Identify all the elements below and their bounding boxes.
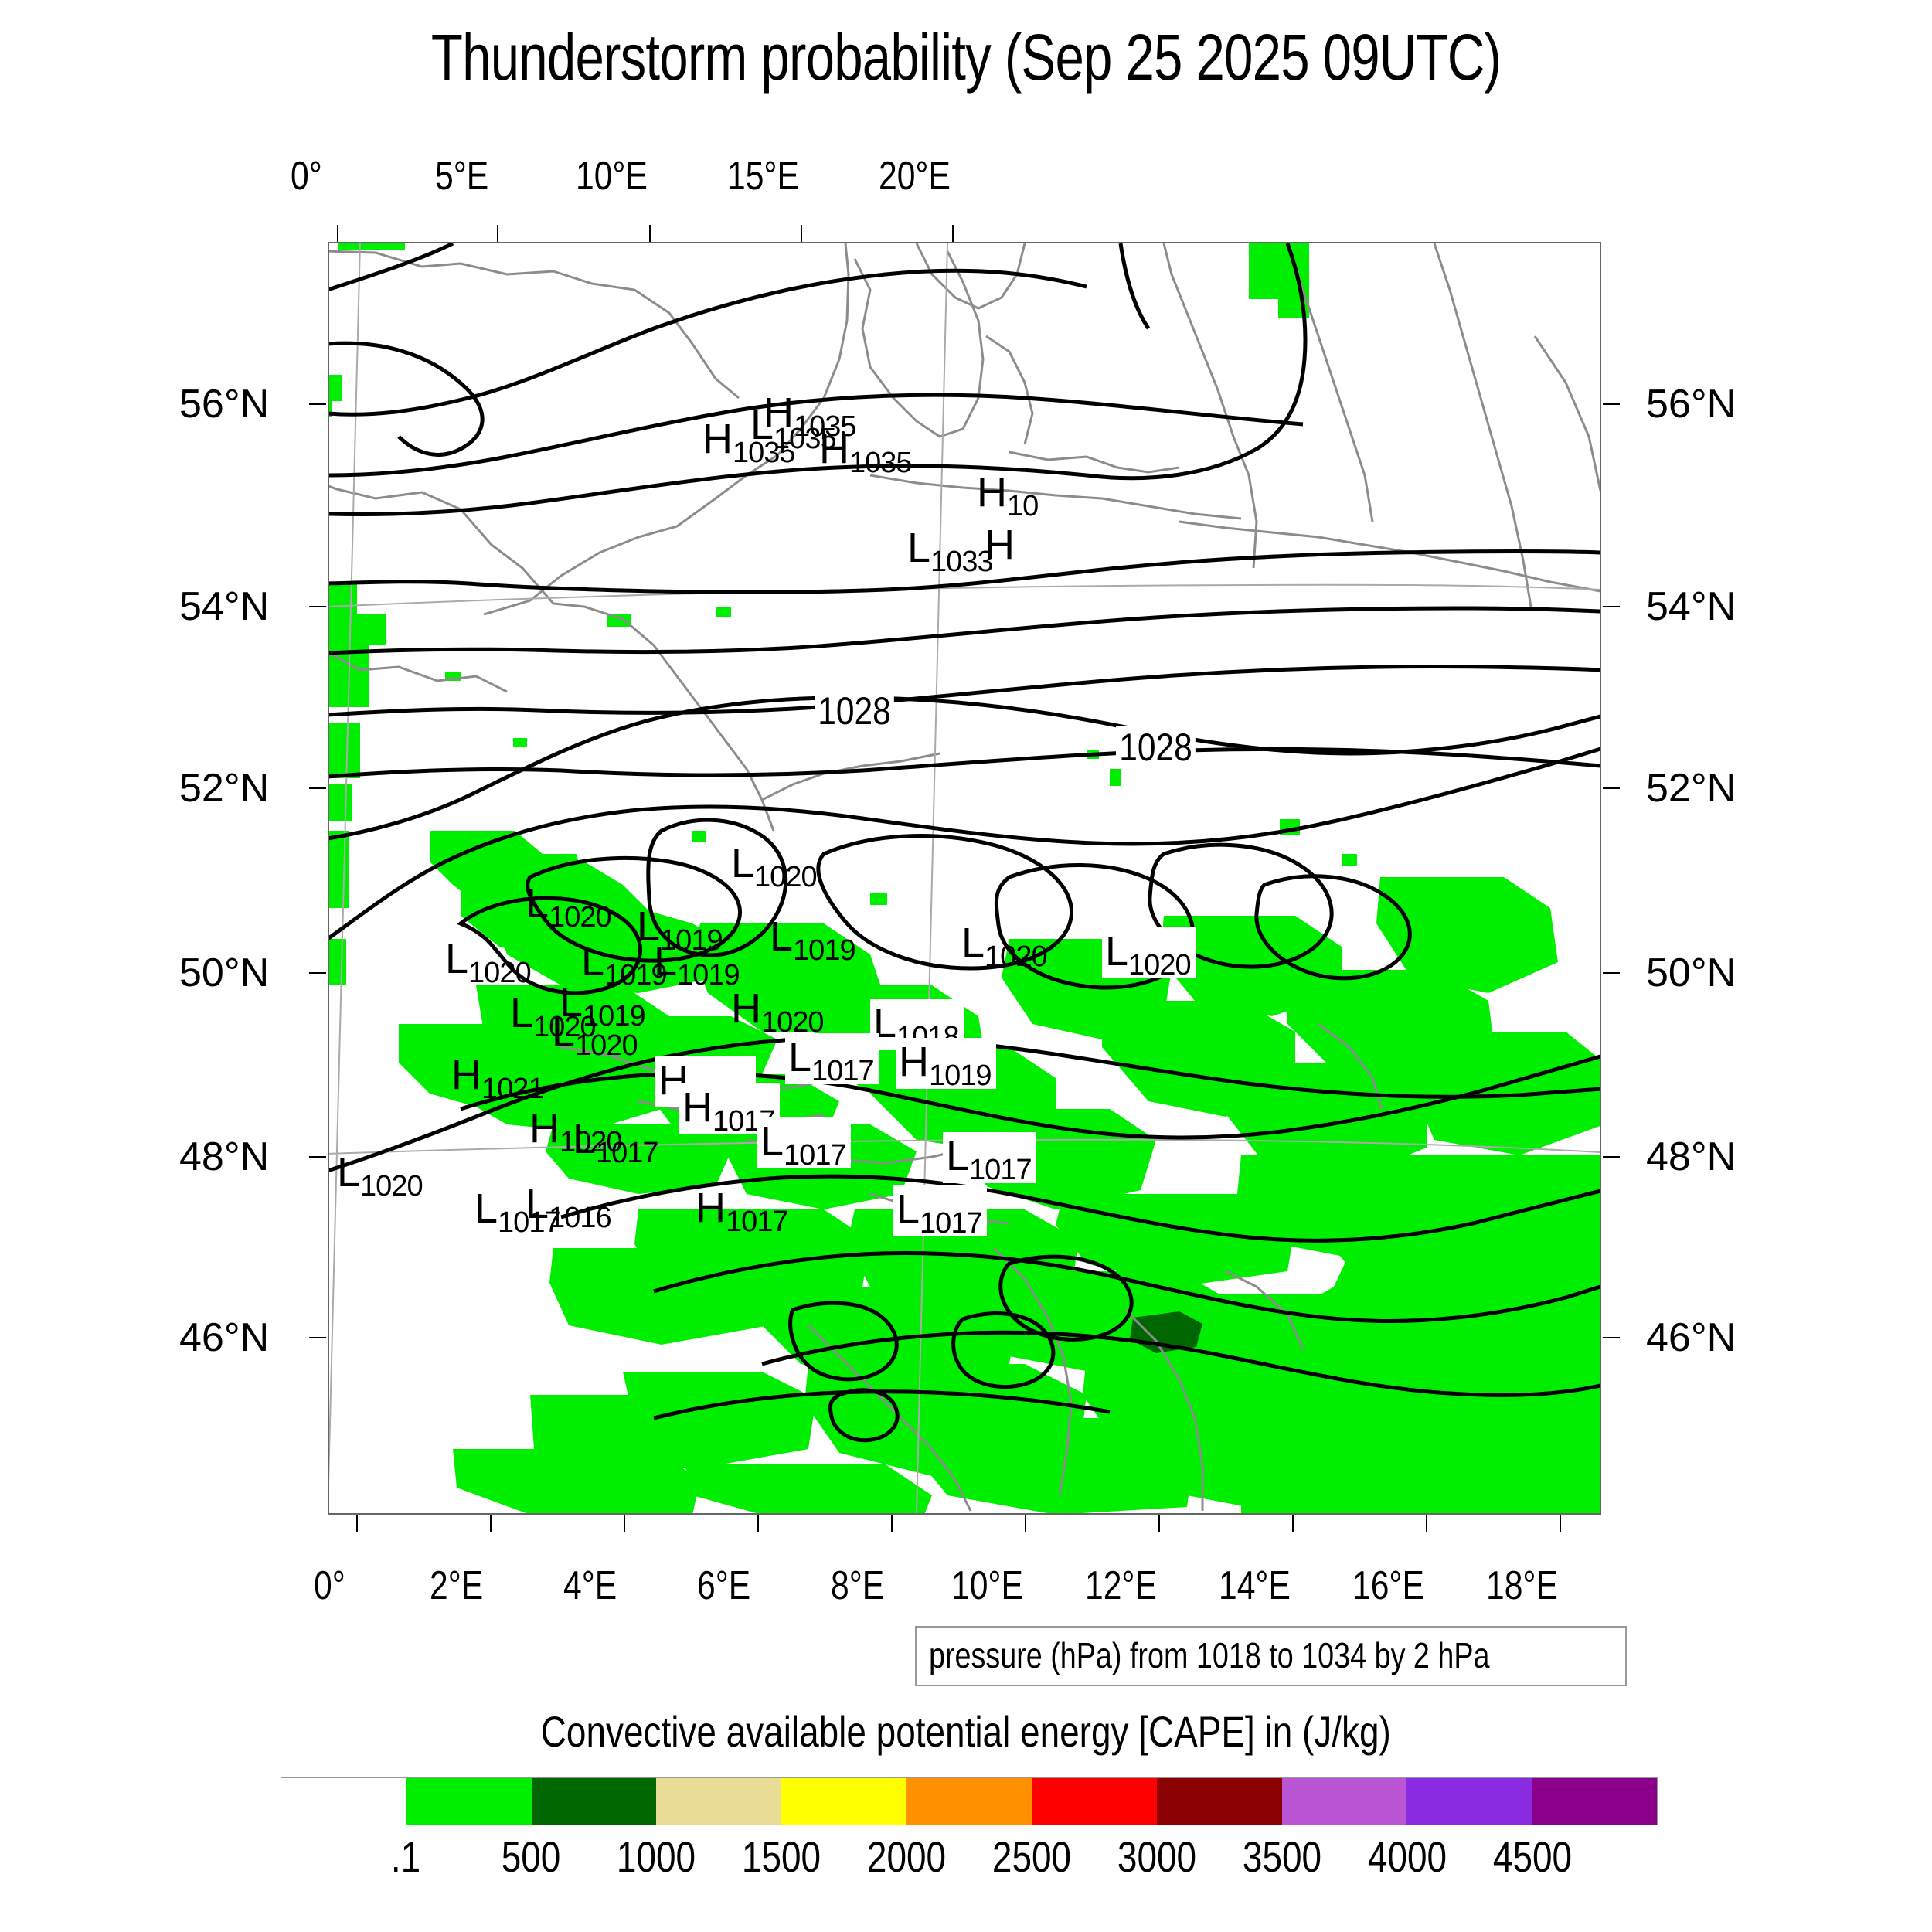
bottom-tick xyxy=(1560,1515,1561,1532)
colorbar-swatch-1[interactable] xyxy=(406,1778,532,1825)
pressure-center-type: H xyxy=(899,1039,929,1085)
pressure-center-value: 1020 xyxy=(468,957,531,989)
pressure-center-l-20: L1020 xyxy=(552,1011,638,1053)
pressure-center-type: H xyxy=(977,469,1007,515)
pressure-center-type: L xyxy=(337,1149,360,1196)
left-tick xyxy=(309,403,326,405)
bottom-tick xyxy=(490,1515,492,1532)
top-tick xyxy=(497,225,498,242)
colorbar-tick-label: 3000 xyxy=(1117,1833,1196,1881)
map-canvas xyxy=(329,243,1600,1513)
pressure-center-value: 1019 xyxy=(793,934,855,967)
colorbar-swatch-10[interactable] xyxy=(1532,1778,1657,1825)
pressure-center-value: 1020 xyxy=(360,1170,423,1202)
pressure-center-type: L xyxy=(552,1009,575,1055)
colorbar-tick-label: 500 xyxy=(502,1833,561,1881)
pressure-center-type: L xyxy=(788,1034,811,1080)
cape-colorbar[interactable] xyxy=(281,1777,1658,1825)
right-axis-tick-label: 48°N xyxy=(1646,1135,1736,1179)
colorbar-swatch-3[interactable] xyxy=(656,1778,781,1825)
top-tick xyxy=(952,225,954,242)
pressure-center-value: 1020 xyxy=(1128,949,1191,981)
pressure-center-h-22: H1019 xyxy=(896,1038,996,1089)
pressure-center-value: 1020 xyxy=(985,940,1047,973)
pressure-center-type: H xyxy=(529,1105,560,1151)
pressure-center-h-23: H1021 xyxy=(451,1054,544,1096)
top-tick xyxy=(801,225,802,242)
colorbar-tick-label: 4500 xyxy=(1493,1833,1572,1881)
right-tick xyxy=(1603,787,1620,789)
pressure-center-type: L xyxy=(1105,928,1128,975)
pressure-center-type: H xyxy=(985,522,1015,568)
colorbar-swatch-4[interactable] xyxy=(781,1778,906,1825)
colorbar-tick-label: 1500 xyxy=(742,1833,821,1881)
bottom-tick xyxy=(1292,1515,1294,1532)
bottom-tick xyxy=(356,1515,358,1532)
bottom-tick xyxy=(624,1515,625,1532)
pressure-center-value: 1020 xyxy=(549,901,611,934)
contour-label-1: 1028 xyxy=(1116,726,1196,768)
pressure-center-l-30: L1020 xyxy=(337,1151,423,1193)
right-axis-tick-label: 56°N xyxy=(1646,383,1736,426)
left-axis-tick-label: 46°N xyxy=(179,1316,269,1359)
pressure-center-value: 1020 xyxy=(754,861,817,893)
left-axis-tick-label: 54°N xyxy=(179,585,269,628)
chart-page: Thunderstorm probability (Sep 25 2025 09… xyxy=(0,0,1932,1932)
right-axis-tick-label: 46°N xyxy=(1646,1316,1736,1359)
right-tick xyxy=(1603,1156,1620,1158)
pressure-center-l-32: L1016 xyxy=(526,1183,611,1225)
pressure-center-value: 1021 xyxy=(481,1073,544,1105)
pressure-center-h-33: H1017 xyxy=(696,1187,788,1229)
pressure-center-value: 1019 xyxy=(929,1060,992,1092)
pressure-center-type: L xyxy=(526,1181,549,1227)
colorbar-tick-label: .1 xyxy=(391,1833,420,1881)
pressure-center-type: L xyxy=(445,936,468,982)
left-tick xyxy=(309,606,326,607)
pressure-center-type: L xyxy=(731,840,754,886)
right-tick xyxy=(1603,1337,1620,1338)
pressure-center-type: H xyxy=(731,985,761,1032)
contour-label-0: 1028 xyxy=(815,690,894,732)
pressure-center-type: H xyxy=(764,389,794,436)
pressure-center-type: H xyxy=(682,1084,713,1131)
pressure-center-value: 1017 xyxy=(920,1207,982,1240)
right-tick xyxy=(1603,403,1620,405)
left-tick xyxy=(309,787,326,789)
pressure-center-h-18: H1020 xyxy=(731,988,824,1029)
pressure-center-value: 1020 xyxy=(575,1029,638,1062)
pressure-center-h-3: H1035 xyxy=(819,428,912,470)
pressure-center-l-15: L1020 xyxy=(1102,927,1196,978)
pressure-center-h-4: H10 xyxy=(977,471,1038,513)
colorbar-swatch-7[interactable] xyxy=(1157,1778,1282,1825)
left-tick xyxy=(309,1337,326,1338)
pressure-center-l-13: L1019 xyxy=(654,940,740,982)
colorbar-caption: Convective available potential energy [C… xyxy=(0,1707,1932,1757)
right-tick xyxy=(1603,606,1620,607)
pressure-center-type: L xyxy=(961,920,985,966)
bottom-tick xyxy=(891,1515,893,1532)
pressure-center-value: 10 xyxy=(1007,490,1038,522)
right-axis-tick-label: 52°N xyxy=(1646,767,1736,810)
pressure-center-type: L xyxy=(573,1116,596,1162)
pressure-center-l-27: L1017 xyxy=(573,1118,658,1160)
bottom-tick xyxy=(1158,1515,1160,1532)
pressure-center-type: H xyxy=(702,416,733,462)
left-axis-tick-label: 48°N xyxy=(179,1135,269,1179)
pressure-center-l-11: L1020 xyxy=(445,938,531,980)
pressure-center-type: L xyxy=(907,525,930,571)
colorbar-caption-text: Convective available potential energy [C… xyxy=(541,1707,1391,1757)
right-tick xyxy=(1603,972,1620,974)
colorbar-swatch-2[interactable] xyxy=(532,1778,657,1825)
pressure-center-type: L xyxy=(510,990,533,1036)
colorbar-swatch-8[interactable] xyxy=(1282,1778,1407,1825)
pressure-center-type: H xyxy=(819,426,849,472)
pressure-center-type: L xyxy=(526,880,549,927)
pressure-center-value: 1016 xyxy=(549,1202,611,1234)
right-axis-tick-label: 50°N xyxy=(1646,951,1736,995)
pressure-center-l-34: L1017 xyxy=(893,1185,987,1236)
pressure-center-l-28: L1017 xyxy=(757,1117,851,1168)
pressure-center-value: 1033 xyxy=(930,546,993,578)
left-axis-tick-label: 56°N xyxy=(179,383,269,426)
pressure-center-value: 1017 xyxy=(811,1055,874,1087)
colorbar-tick-label: 2500 xyxy=(992,1833,1071,1881)
pressure-center-type: H xyxy=(451,1052,481,1098)
top-tick xyxy=(337,225,338,242)
right-axis-tick-label: 54°N xyxy=(1646,585,1736,628)
pressure-center-h-6: H xyxy=(985,524,1015,566)
pressure-center-l-10: L1019 xyxy=(770,916,855,957)
pressure-center-value: 1019 xyxy=(677,959,740,992)
pressure-center-value: 1017 xyxy=(784,1139,846,1172)
pressure-center-type: L xyxy=(760,1118,784,1165)
page-title: Thunderstorm probability (Sep 25 2025 09… xyxy=(193,20,1739,94)
pressure-center-l-21: L1017 xyxy=(785,1033,879,1084)
pressure-legend-box: pressure (hPa) from 1018 to 1034 by 2 hP… xyxy=(915,1626,1627,1686)
colorbar-tick-label: 2000 xyxy=(867,1833,946,1881)
pressure-center-type: L xyxy=(474,1185,498,1232)
colorbar-swatch-9[interactable] xyxy=(1406,1778,1532,1825)
left-axis-tick-label: 50°N xyxy=(179,951,269,995)
pressure-center-value: 1017 xyxy=(969,1154,1032,1186)
colorbar-swatch-0[interactable] xyxy=(281,1778,406,1825)
pressure-legend-text: pressure (hPa) from 1018 to 1034 by 2 hP… xyxy=(929,1635,1489,1675)
pressure-center-l-7: L1020 xyxy=(731,842,817,884)
bottom-tick xyxy=(757,1515,759,1532)
colorbar-tick-label: 1000 xyxy=(617,1833,696,1881)
pressure-center-l-5: L1033 xyxy=(907,527,993,569)
pressure-center-type: L xyxy=(896,1186,920,1233)
left-tick xyxy=(309,972,326,974)
pressure-center-l-8: L1020 xyxy=(526,883,611,924)
top-tick xyxy=(649,225,651,242)
pressure-center-value: 1017 xyxy=(726,1206,788,1238)
left-tick xyxy=(309,1156,326,1158)
pressure-center-value: 1035 xyxy=(849,447,912,479)
colorbar-tick-label: 4000 xyxy=(1368,1833,1447,1881)
colorbar-swatch-5[interactable] xyxy=(906,1778,1032,1825)
pressure-center-type: L xyxy=(770,913,793,960)
bottom-tick xyxy=(1426,1515,1427,1532)
colorbar-tick-label: 3500 xyxy=(1243,1833,1321,1881)
pressure-center-l-29: L1017 xyxy=(943,1132,1036,1183)
pressure-center-type: H xyxy=(696,1185,726,1231)
pressure-center-value: 1017 xyxy=(596,1137,658,1169)
colorbar-tick-labels: .150010001500200025003000350040004500 xyxy=(281,1833,1658,1887)
left-axis-tick-label: 52°N xyxy=(179,767,269,810)
pressure-center-type: L xyxy=(654,938,677,985)
pressure-center-type: L xyxy=(581,938,604,985)
pressure-center-l-14: L1020 xyxy=(961,922,1047,964)
map-panel[interactable]: H1035L1035H1035H1035H10L1033HL1020L1020L… xyxy=(328,242,1601,1515)
colorbar-swatch-6[interactable] xyxy=(1032,1778,1157,1825)
bottom-tick xyxy=(1025,1515,1026,1532)
pressure-center-type: L xyxy=(946,1133,969,1179)
